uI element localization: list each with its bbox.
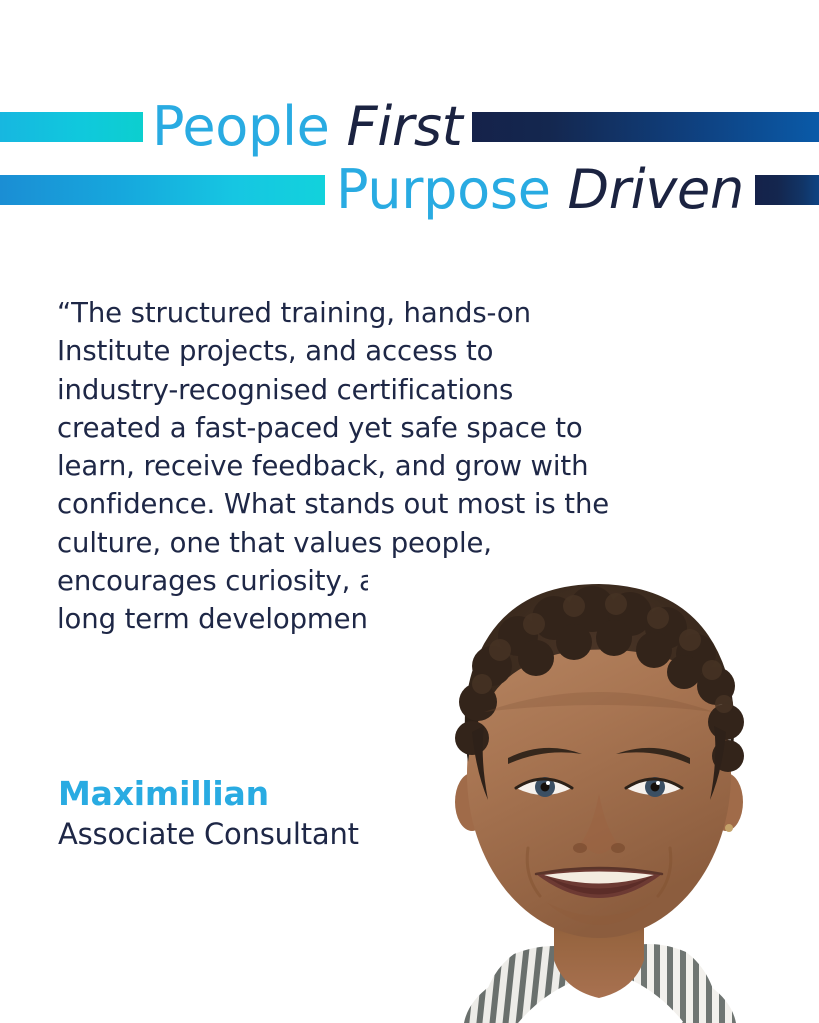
slogan-line-1: People First <box>143 100 472 154</box>
person-role: Associate Consultant <box>58 814 478 854</box>
accent-bar-cyan-left <box>0 112 143 142</box>
person-name: Maximillian <box>58 774 478 814</box>
earring <box>725 824 733 832</box>
header-lockup: People First Purpose Driven <box>0 0 819 230</box>
slogan-word-people: People <box>152 95 330 158</box>
slogan-row-purpose-driven: Purpose Driven <box>0 160 819 220</box>
attribution-block: Maximillian Associate Consultant <box>58 774 478 854</box>
slogan-row-people-first: People First <box>0 97 819 157</box>
slogan-word-purpose: Purpose <box>336 158 551 221</box>
accent-bar-cyan-left-bottom <box>0 175 325 205</box>
accent-bar-navy-right-bottom <box>755 175 819 205</box>
slogan-word-first: First <box>346 95 462 158</box>
testimonial-poster: People First Purpose Driven “The structu… <box>0 0 819 1023</box>
accent-bar-navy-right-top <box>472 112 819 142</box>
slogan-line-2: Purpose Driven <box>325 163 755 217</box>
slogan-word-driven: Driven <box>568 158 744 221</box>
